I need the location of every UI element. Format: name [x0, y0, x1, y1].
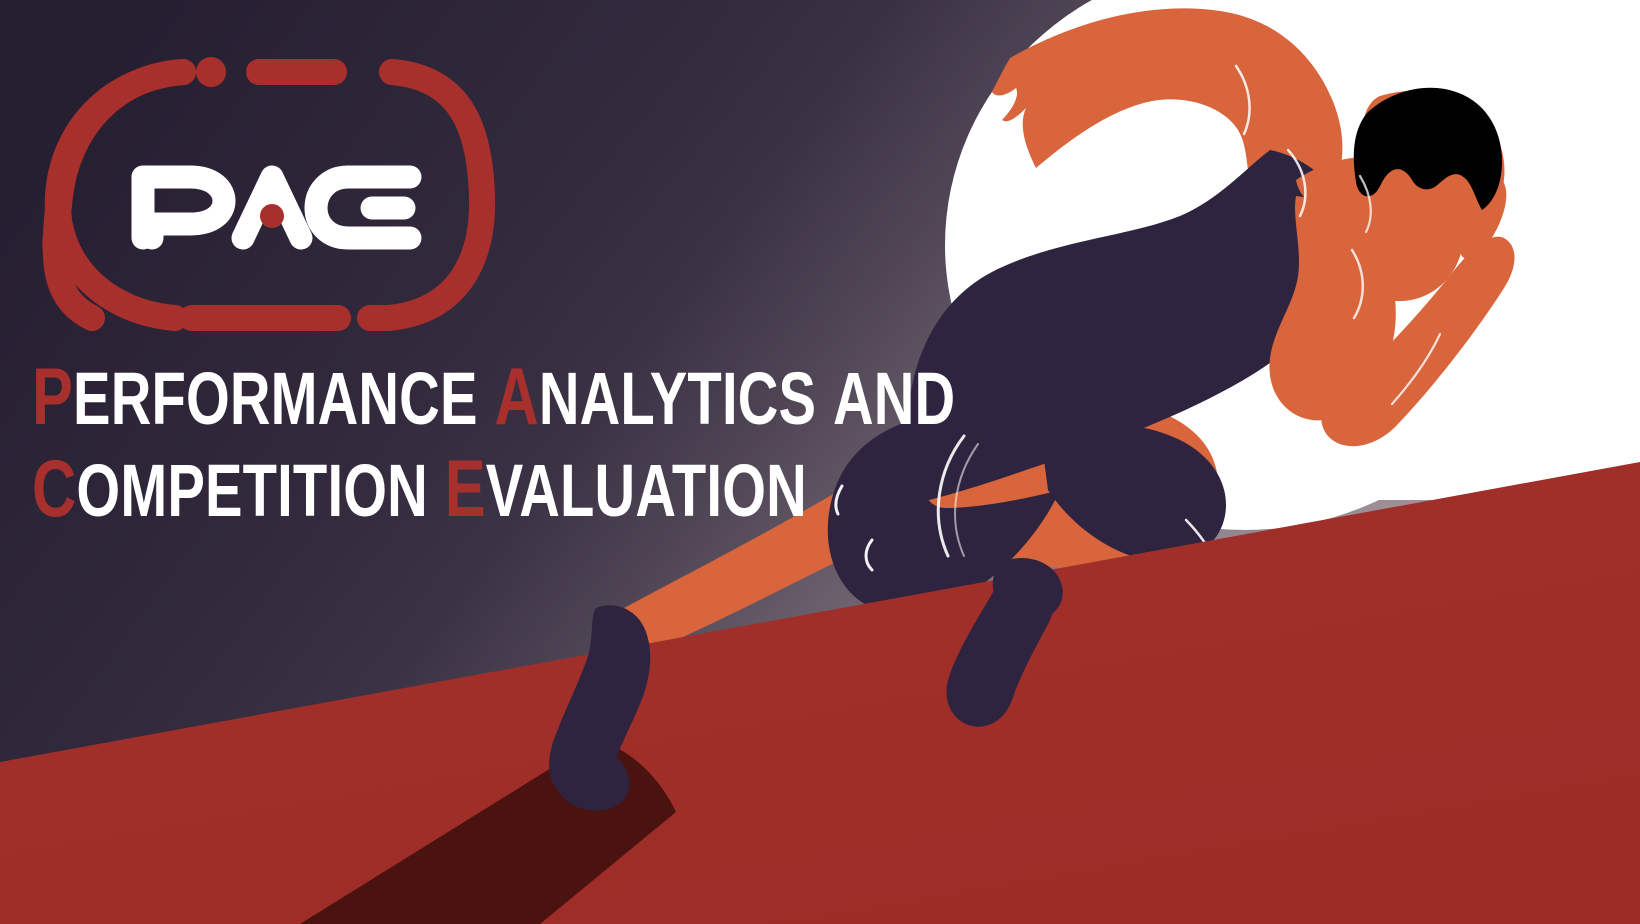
wordmark-letter-p	[143, 177, 224, 238]
wordmark-a-dot	[260, 204, 284, 228]
track-arc-left-main	[58, 72, 183, 318]
pace-logo-mark[interactable]	[0, 0, 1640, 924]
track-arc-right	[388, 72, 482, 318]
track-dot-top	[196, 57, 226, 87]
pace-banner: PERFORMANCEANALYTICSAND COMPETITIONEVALU…	[0, 0, 1640, 924]
